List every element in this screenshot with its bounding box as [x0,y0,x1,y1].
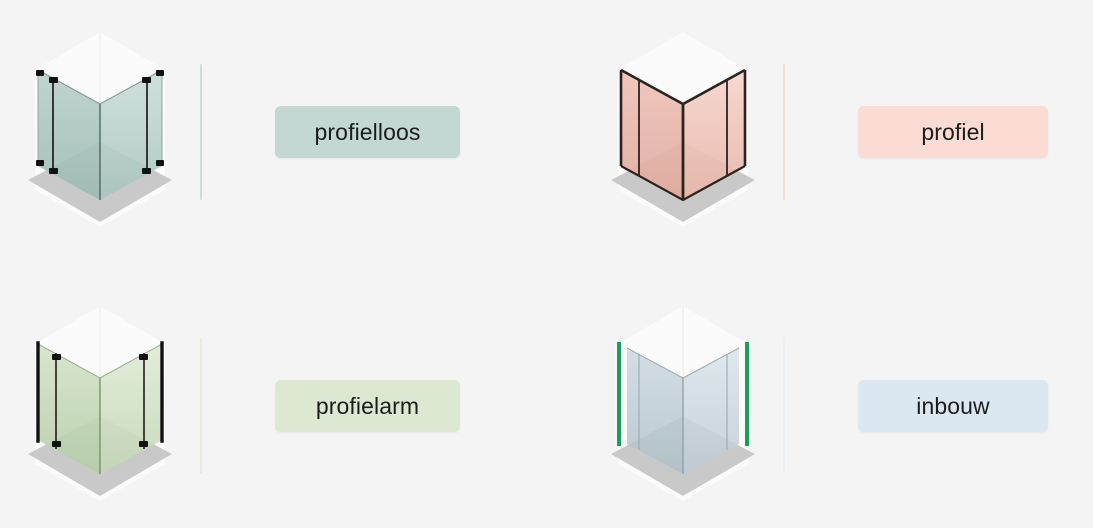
illustration-profiel [583,22,783,242]
option-cell-inbouw: inbouw [583,292,1093,520]
divider-profiel [783,64,785,200]
label-pill-profiel[interactable]: profiel [858,106,1048,158]
label-pill-inbouw[interactable]: inbouw [858,380,1048,432]
illustration-inbouw [583,296,783,516]
option-cell-profielloos: profielloos [0,18,560,246]
comparison-board: profielloos [0,0,1093,528]
label-pill-profielarm[interactable]: profielarm [275,380,460,432]
option-cell-profielarm: profielarm [0,292,560,520]
divider-profielarm [200,338,202,474]
label-text-profiel: profiel [921,119,984,146]
divider-inbouw [783,338,785,474]
label-pill-profielloos[interactable]: profielloos [275,106,460,158]
divider-profielloos [200,64,202,200]
option-cell-profiel: profiel [583,18,1093,246]
label-text-profielloos: profielloos [315,119,421,146]
label-text-profielarm: profielarm [316,393,419,420]
label-text-inbouw: inbouw [916,393,990,420]
illustration-profielloos [0,22,200,242]
illustration-profielarm [0,296,200,516]
